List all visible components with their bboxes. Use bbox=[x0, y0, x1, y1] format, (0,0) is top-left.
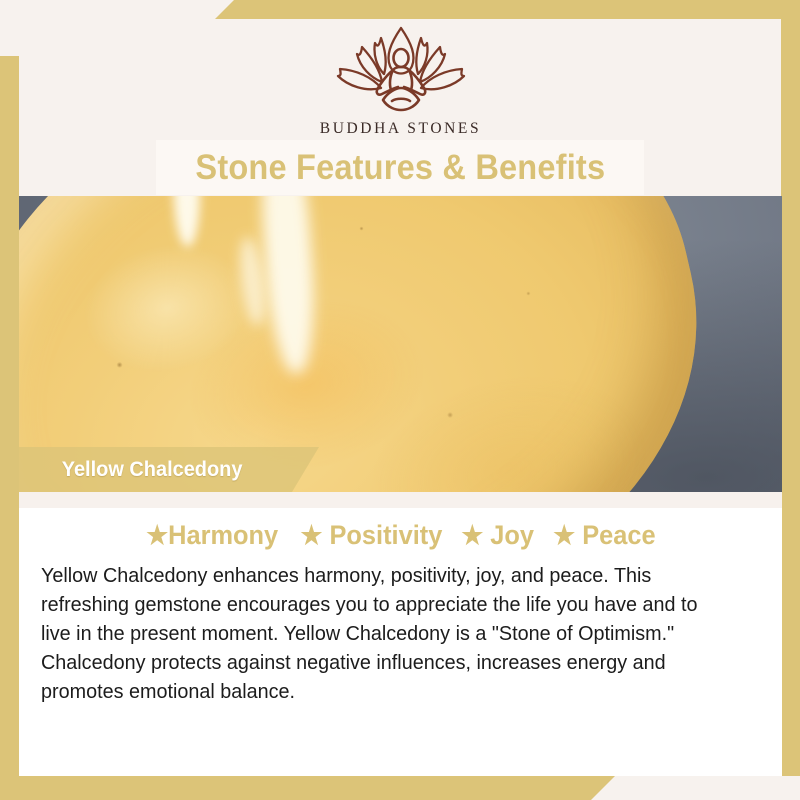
star-icon: ★ bbox=[553, 520, 575, 550]
stone-name-label: Yellow Chalcedony bbox=[19, 458, 242, 482]
lotus-meditating-figure-icon bbox=[326, 22, 476, 118]
brand-name: BUDDHA STONES bbox=[19, 120, 782, 138]
star-icon: ★ bbox=[462, 520, 484, 550]
title-banner: Stone Features & Benefits bbox=[156, 140, 644, 195]
benefit-item: ★ Positivity bbox=[300, 520, 442, 551]
benefit-label: Positivity bbox=[322, 520, 442, 550]
benefit-item: ★ Joy bbox=[462, 520, 535, 551]
benefit-label: Peace bbox=[575, 520, 655, 550]
gold-border-right bbox=[781, 0, 800, 776]
brand-logo: BUDDHA STONES bbox=[19, 22, 782, 138]
benefit-item: ★ Peace bbox=[553, 520, 655, 551]
photo-content-divider bbox=[19, 492, 782, 508]
benefits-list: ★Harmony★ Positivity★ Joy★ Peace bbox=[19, 520, 782, 551]
page-title: Stone Features & Benefits bbox=[195, 148, 605, 188]
stone-name-badge: Yellow Chalcedony bbox=[19, 447, 319, 492]
star-icon: ★ bbox=[300, 520, 322, 550]
benefit-label: Joy bbox=[484, 520, 535, 550]
benefit-item: ★Harmony bbox=[146, 520, 278, 551]
benefit-label: Harmony bbox=[168, 520, 278, 550]
star-icon: ★ bbox=[146, 520, 168, 550]
stone-photo: Yellow Chalcedony bbox=[19, 196, 782, 492]
gold-border-left bbox=[0, 56, 19, 776]
gold-border-bottom bbox=[0, 775, 616, 800]
infographic-card: BUDDHA STONES Stone Features & Benefits … bbox=[0, 0, 800, 800]
content-panel: ★Harmony★ Positivity★ Joy★ Peace Yellow … bbox=[19, 508, 782, 776]
description-paragraph: Yellow Chalcedony enhances harmony, posi… bbox=[41, 561, 726, 706]
